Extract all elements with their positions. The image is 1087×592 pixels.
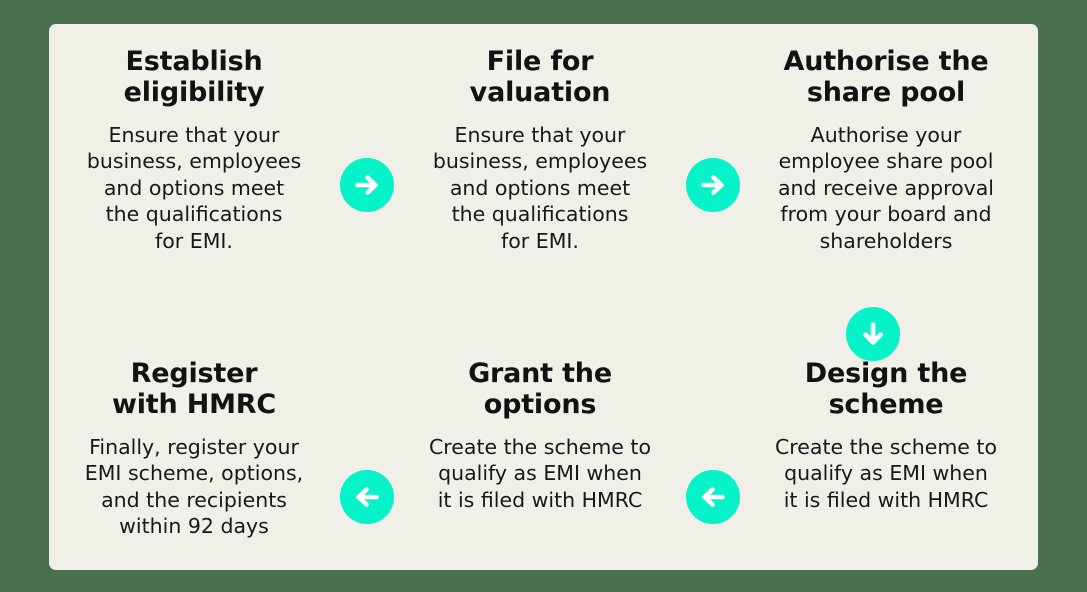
step-body: Authorise your employee share pool and r… xyxy=(772,122,1000,254)
flow-row-bottom: Register with HMRC Finally, register you… xyxy=(49,358,1038,540)
step-title: Establish eligibility xyxy=(120,46,269,108)
flow-step-authorise-the-share-pool: Authorise the share pool Authorise your … xyxy=(741,46,1031,254)
step-body: Ensure that your business, employees and… xyxy=(427,122,653,254)
flow-step-establish-eligibility: Establish eligibility Ensure that your b… xyxy=(49,46,339,254)
flow-step-grant-the-options: Grant the options Create the scheme to q… xyxy=(395,358,685,513)
flow-diagram-card: Establish eligibility Ensure that your b… xyxy=(49,24,1038,570)
connector-arrow-down xyxy=(728,307,1018,361)
step-body: Ensure that your business, employees and… xyxy=(81,122,307,254)
arrow-right-icon xyxy=(686,158,740,212)
step-title: Design the scheme xyxy=(801,358,971,420)
arrow-left-icon xyxy=(340,470,394,524)
connector-arrow-right-1 xyxy=(339,46,395,212)
flow-step-register-with-hmrc: Register with HMRC Finally, register you… xyxy=(49,358,339,540)
flow-row-top: Establish eligibility Ensure that your b… xyxy=(49,46,1038,254)
step-body: Create the scheme to qualify as EMI when… xyxy=(423,434,657,513)
step-body: Finally, register your EMI scheme, optio… xyxy=(79,434,309,540)
step-title: File for valuation xyxy=(466,46,615,108)
arrow-left-icon xyxy=(686,470,740,524)
flow-step-design-the-scheme: Design the scheme Create the scheme to q… xyxy=(741,358,1031,513)
connector-arrow-left-2 xyxy=(685,358,741,524)
step-body: Create the scheme to qualify as EMI when… xyxy=(769,434,1003,513)
arrow-right-icon xyxy=(340,158,394,212)
connector-arrow-left-1 xyxy=(339,358,395,524)
flow-step-file-for-valuation: File for valuation Ensure that your busi… xyxy=(395,46,685,254)
connector-arrow-right-2 xyxy=(685,46,741,212)
arrow-down-icon xyxy=(846,307,900,361)
step-title: Authorise the share pool xyxy=(780,46,993,108)
step-title: Grant the options xyxy=(464,358,616,420)
step-title: Register with HMRC xyxy=(108,358,280,420)
